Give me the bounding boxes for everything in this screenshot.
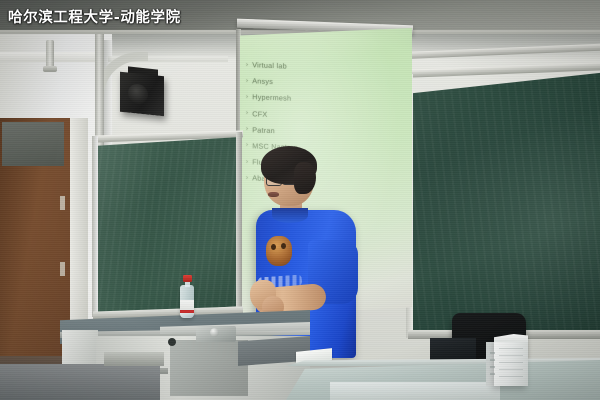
ceiling-pipe-cap (43, 66, 57, 72)
teacher-podium-knob (210, 328, 219, 337)
teacher-podium-cable-hole (168, 338, 176, 346)
door-hinge (60, 196, 65, 210)
door-glass-panel (2, 122, 64, 166)
teacher-podium-panel (170, 340, 248, 396)
bullet-icon: › (246, 126, 248, 132)
list-item: › CFX (246, 109, 356, 122)
bullet-icon: › (246, 175, 248, 181)
left-chalkboard-texture (95, 137, 240, 315)
list-item-label: Hypermesh (252, 93, 291, 103)
list-item-label: CFX (252, 109, 267, 119)
left-board-frame-right (236, 132, 242, 314)
list-item-label: Virtual lab (252, 60, 287, 70)
bullet-icon: › (246, 62, 248, 68)
left-board-frame-left (92, 136, 98, 317)
tshirt-graphic-icon (266, 236, 292, 266)
right-chalkboard-texture (412, 72, 600, 338)
tshirt-collar (272, 208, 308, 223)
bullet-icon: › (246, 159, 248, 165)
bullet-icon: › (246, 78, 248, 84)
watermark-text: 哈尔滨工程大学-动能学院 (8, 6, 181, 27)
list-item: › Ansys (246, 76, 356, 89)
water-bottle-cap (183, 275, 192, 282)
tissue-box-side-print (490, 352, 495, 378)
floor-baseboard (104, 352, 164, 366)
presenter-mouth (268, 192, 279, 197)
list-item-label: Ansys (252, 76, 273, 86)
front-desk-lower (330, 382, 500, 400)
list-item: › Patran (246, 125, 356, 138)
classroom-photo: › Virtual lab › Ansys › Hypermesh › CFX … (0, 0, 600, 400)
water-bottle-label-stripe (180, 310, 194, 313)
bullet-icon: › (246, 110, 248, 116)
floor (0, 364, 160, 400)
door-hinge (60, 262, 65, 276)
tshirt-graphic-eye (271, 244, 276, 250)
list-item-label: Patran (252, 125, 275, 135)
list-item: › Hypermesh (246, 92, 356, 105)
bullet-icon: › (246, 94, 248, 100)
tissue-box-print (499, 348, 523, 378)
bullet-icon: › (246, 143, 248, 149)
tshirt-graphic-eye (281, 243, 286, 249)
